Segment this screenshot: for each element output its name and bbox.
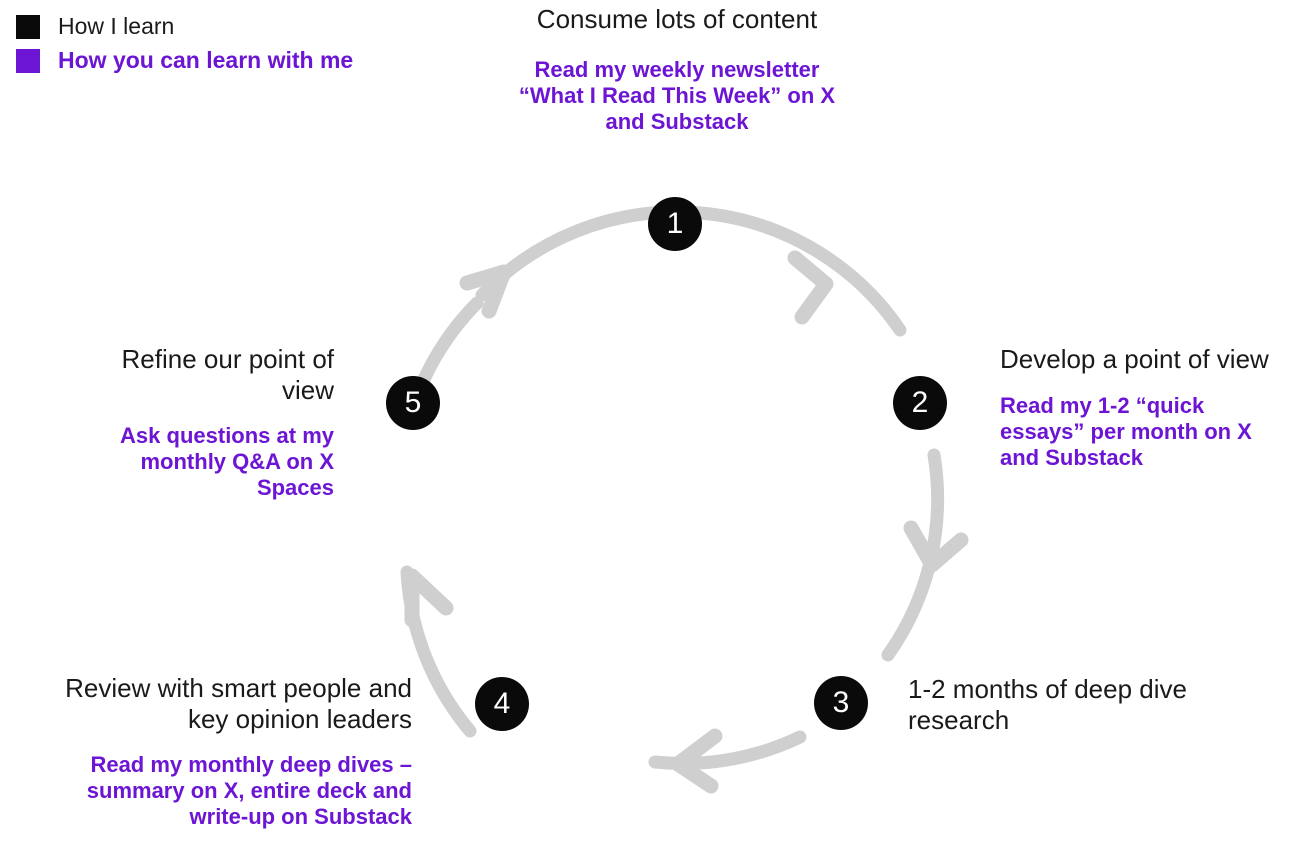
- step-subtitle-1: Read my weekly newsletter “What I Read T…: [516, 57, 838, 135]
- step-text-1: Consume lots of content Read my weekly n…: [516, 4, 838, 135]
- arrowhead-4-to-5: [412, 576, 446, 620]
- step-badge-1: 1: [648, 197, 702, 251]
- step-badge-2: 2: [893, 376, 947, 430]
- step-subtitle-4: Read my monthly deep dives – summary on …: [36, 752, 412, 830]
- step-subtitle-2: Read my 1-2 “quick essays” per month on …: [1000, 393, 1290, 471]
- step-subtitle-5: Ask questions at my monthly Q&A on X Spa…: [118, 423, 334, 501]
- step-title-5: Refine our point of view: [118, 344, 334, 405]
- arrowhead-1-to-2: [795, 258, 826, 317]
- step-title-2: Develop a point of view: [1000, 344, 1290, 375]
- step-text-3: 1-2 months of deep dive research: [908, 674, 1268, 735]
- step-badge-4: 4: [475, 677, 529, 731]
- step-badge-3: 3: [814, 676, 868, 730]
- step-title-1: Consume lots of content: [516, 4, 838, 35]
- step-text-4: Review with smart people and key opinion…: [36, 673, 412, 830]
- step-text-5: Refine our point of view Ask questions a…: [118, 344, 334, 501]
- step-text-2: Develop a point of view Read my 1-2 “qui…: [1000, 344, 1290, 471]
- step-title-3: 1-2 months of deep dive research: [908, 674, 1268, 735]
- step-badge-5: 5: [386, 376, 440, 430]
- step-title-4: Review with smart people and key opinion…: [36, 673, 412, 734]
